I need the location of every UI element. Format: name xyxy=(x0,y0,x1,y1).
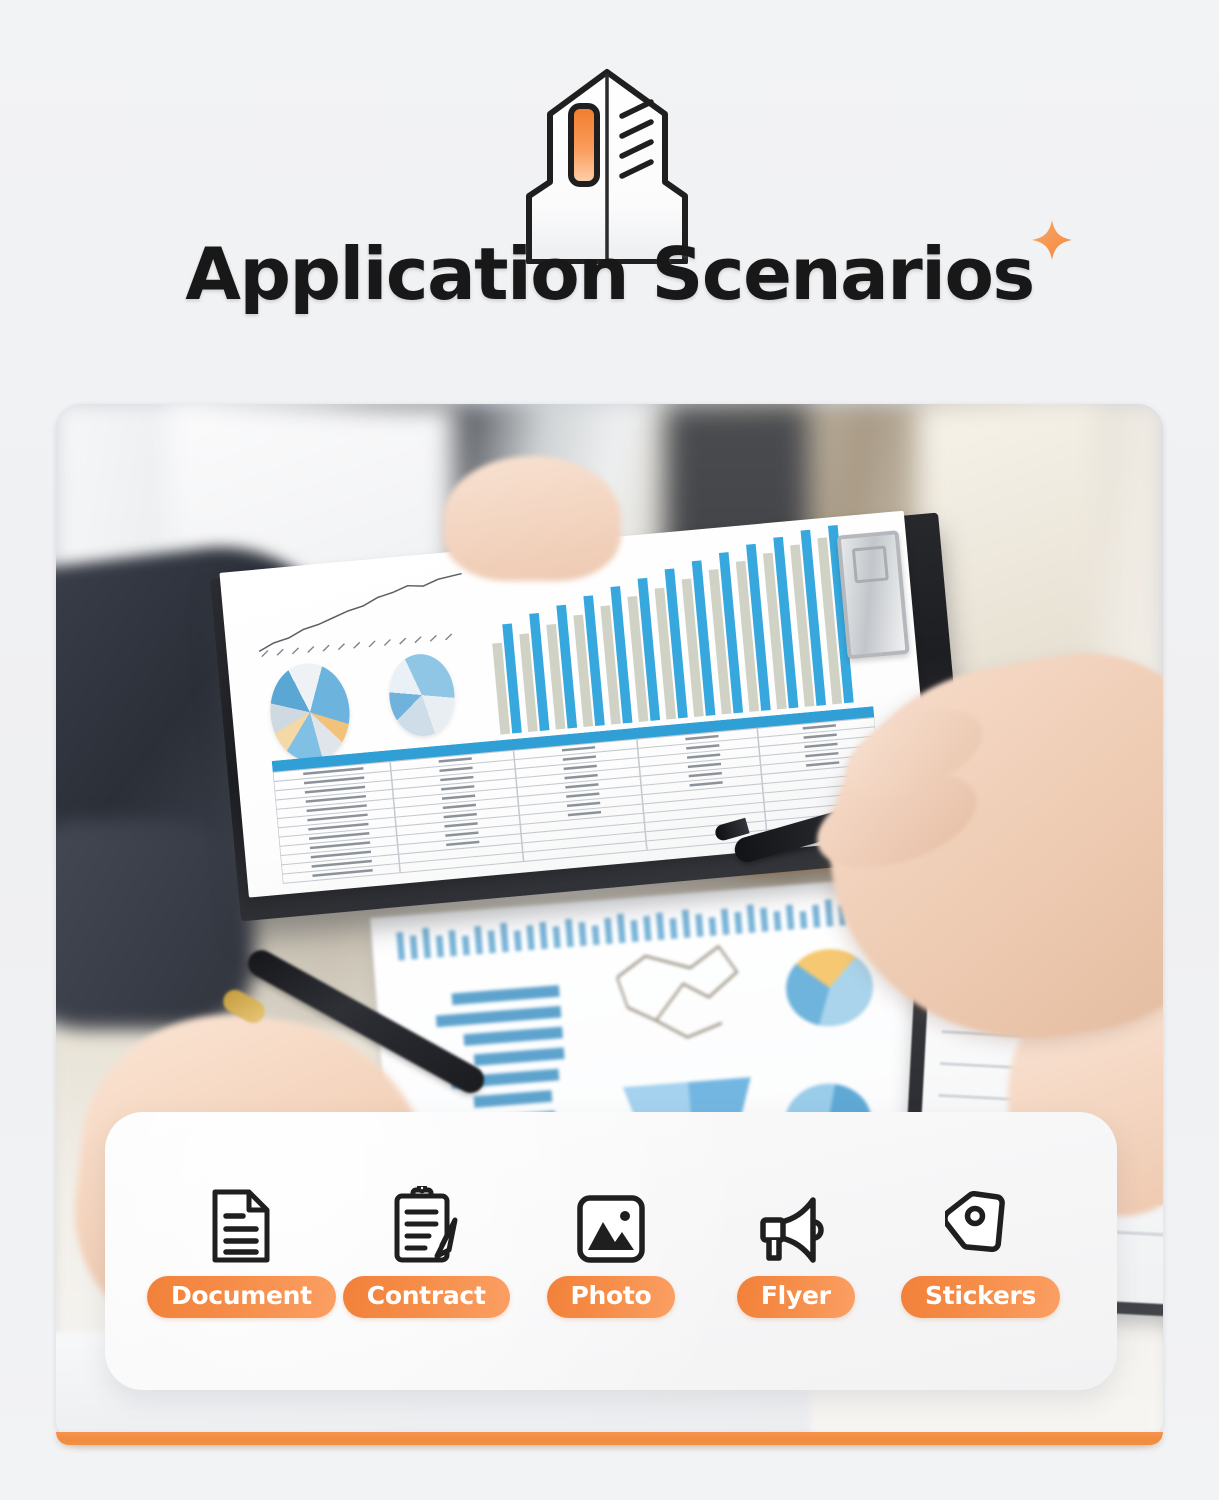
megaphone-icon xyxy=(757,1180,835,1264)
photo-accent-bar xyxy=(56,1432,1163,1445)
network-line-chart xyxy=(609,937,754,1062)
scenario-icon-row: Document xyxy=(105,1112,1117,1390)
scenario-item-stickers[interactable]: Stickers xyxy=(891,1180,1071,1318)
contract-icon xyxy=(391,1180,461,1264)
scenario-item-photo[interactable]: Photo xyxy=(521,1180,701,1318)
scenario-label-document[interactable]: Document xyxy=(147,1276,336,1318)
clipboard-clip xyxy=(837,530,910,659)
scenario-label-stickers[interactable]: Stickers xyxy=(901,1276,1060,1318)
header: Application Scenarios xyxy=(0,0,1219,390)
tag-icon xyxy=(945,1180,1017,1264)
scenario-card: Document xyxy=(105,1112,1117,1390)
title-row: Application Scenarios xyxy=(0,238,1219,310)
scenario-item-flyer[interactable]: Flyer xyxy=(706,1180,886,1318)
presenter-hand xyxy=(443,456,620,581)
scenario-label-contract[interactable]: Contract xyxy=(343,1276,510,1318)
desk-pie-chart-1 xyxy=(783,946,876,1029)
photo-icon xyxy=(575,1180,647,1264)
document-icon xyxy=(209,1180,273,1264)
line-chart-on-report xyxy=(249,569,474,660)
clipboard-clip-inner xyxy=(852,545,889,583)
page-root: Application Scenarios xyxy=(0,0,1219,1500)
scenario-item-document[interactable]: Document xyxy=(151,1180,331,1318)
sparkle-icon xyxy=(1028,216,1076,264)
pie-chart-on-report-1 xyxy=(266,659,354,764)
scenario-label-photo[interactable]: Photo xyxy=(547,1276,676,1318)
scenario-label-flyer[interactable]: Flyer xyxy=(737,1276,855,1318)
pie-chart-on-report-2 xyxy=(386,651,458,738)
page-title: Application Scenarios xyxy=(185,232,1034,316)
scenario-item-contract[interactable]: Contract xyxy=(336,1180,516,1318)
